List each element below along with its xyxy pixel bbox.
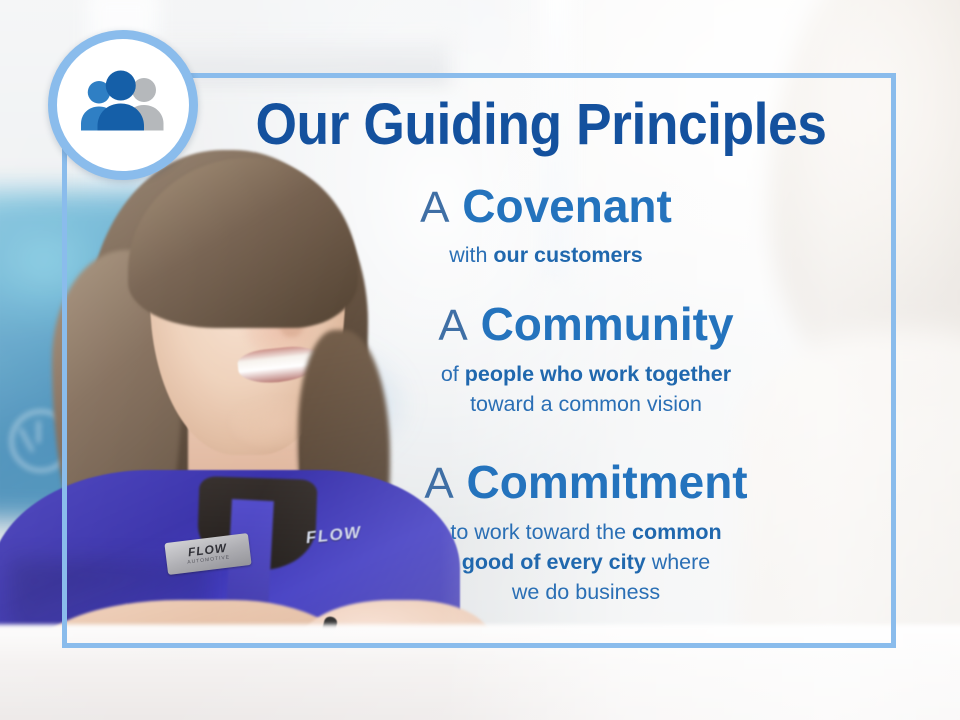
- principle-commitment-detail: to work toward the common good of every …: [276, 518, 896, 607]
- poster: FLOW AUTOMOTIVE FLOW Our Gu: [0, 0, 960, 720]
- commitment-detail-part-2: common: [632, 520, 722, 544]
- principle-community-detail: of people who work together toward a com…: [276, 360, 896, 419]
- commitment-detail-part-4: where: [646, 550, 711, 574]
- community-detail-part-3: toward a common vision: [470, 392, 702, 416]
- principle-commitment-heading: A Commitment: [276, 458, 896, 507]
- principle-community: A Community of people who work together …: [276, 300, 896, 420]
- principle-covenant-heading: A Covenant: [236, 182, 856, 231]
- principle-covenant: A Covenant with our customers: [236, 182, 856, 271]
- principle-community-article: A: [438, 301, 467, 350]
- page-title: Our Guiding Principles: [242, 96, 840, 154]
- principle-covenant-word: Covenant: [462, 180, 672, 232]
- principle-commitment-word: Commitment: [467, 456, 748, 508]
- desk-surface: [0, 625, 960, 720]
- covenant-detail-part-1: with: [449, 243, 493, 267]
- principle-commitment: A Commitment to work toward the common g…: [276, 458, 896, 607]
- people-group-badge: [48, 30, 198, 180]
- principle-community-word: Community: [481, 298, 734, 350]
- community-detail-part-1: of: [441, 362, 465, 386]
- people-group-icon: [75, 68, 171, 142]
- community-detail-part-2: people who work together: [465, 362, 731, 386]
- commitment-detail-part-1: to work toward the: [450, 520, 632, 544]
- covenant-detail-part-2: our customers: [493, 243, 642, 267]
- principle-covenant-detail: with our customers: [236, 241, 856, 271]
- principle-covenant-article: A: [420, 183, 449, 232]
- commitment-detail-part-3: good of every city: [462, 550, 646, 574]
- commitment-detail-part-5: we do business: [512, 580, 660, 604]
- principle-commitment-article: A: [424, 459, 453, 508]
- principle-community-heading: A Community: [276, 300, 896, 349]
